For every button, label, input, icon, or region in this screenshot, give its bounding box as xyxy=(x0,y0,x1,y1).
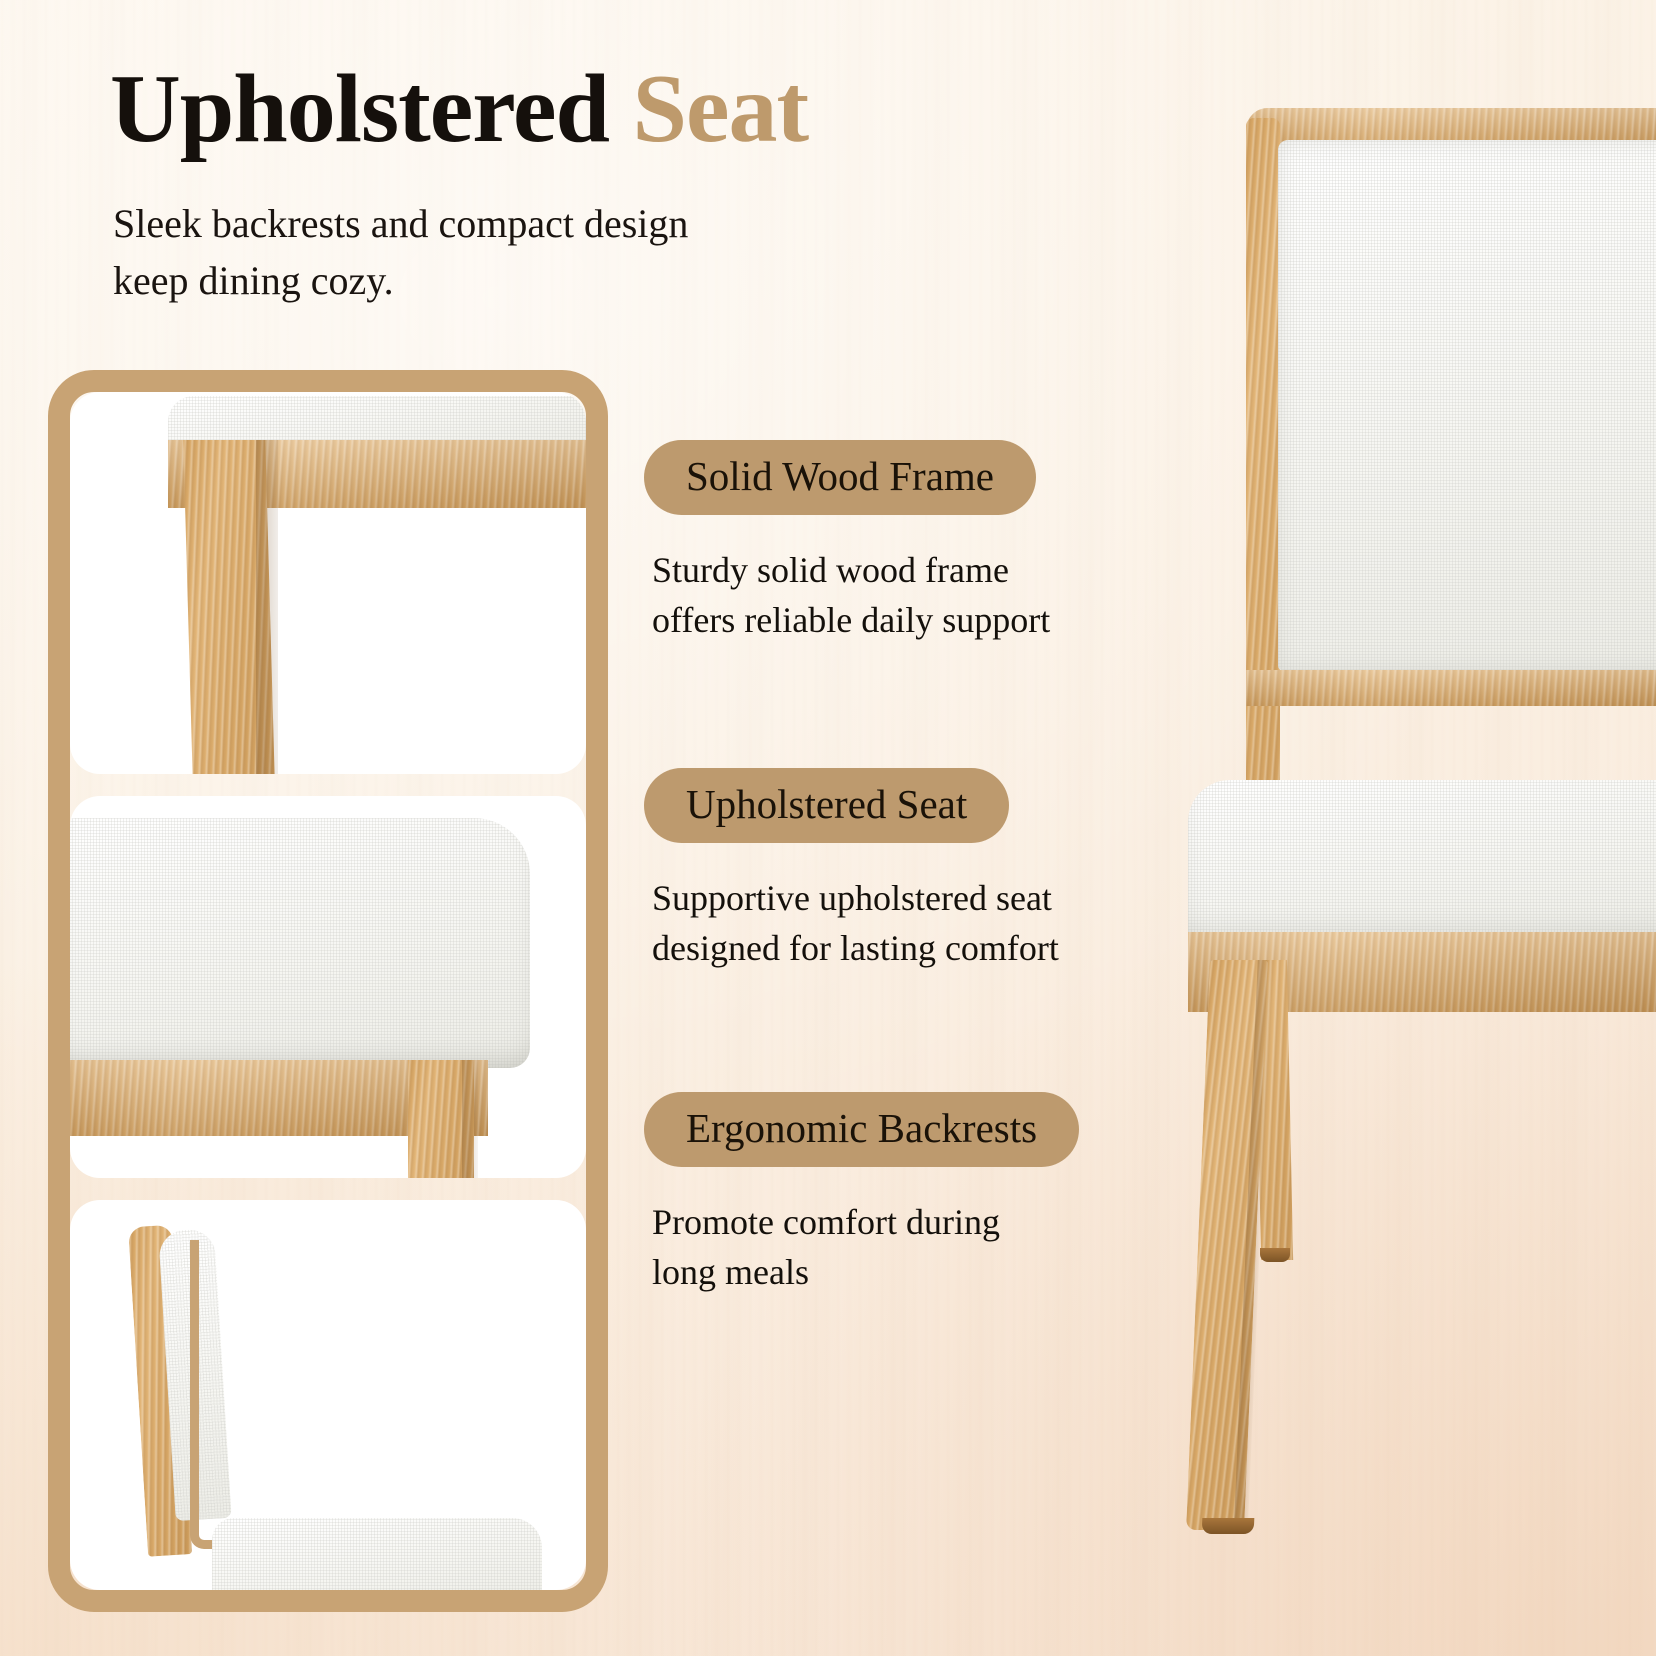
chair-leg-shadow xyxy=(462,1060,478,1178)
page-subtitle-line-2: keep dining cozy. xyxy=(113,253,688,310)
feature-description-line-2: offers reliable daily support xyxy=(652,595,1190,645)
feature-item-solid-wood-frame: Solid Wood Frame Sturdy solid wood frame… xyxy=(630,440,1190,646)
page-subtitle-line-1: Sleek backrests and compact design xyxy=(113,196,688,253)
page-subtitle: Sleek backrests and compact design keep … xyxy=(113,196,688,310)
feature-badge-upholstered-seat[interactable]: Upholstered Seat xyxy=(644,768,1009,843)
backrest-upholstery xyxy=(1278,140,1656,670)
backrest-bottom-rail xyxy=(1246,670,1656,706)
gallery-photo-upholstered-seat-closeup[interactable] xyxy=(70,796,586,1178)
hero-image-dining-chair-side-view[interactable] xyxy=(1150,80,1656,1600)
gallery-photo-chair-side-profile[interactable] xyxy=(70,1200,586,1590)
page-title-accent: Seat xyxy=(633,55,809,163)
feature-description-line-2: long meals xyxy=(652,1247,1190,1297)
feature-badge-solid-wood-frame[interactable]: Solid Wood Frame xyxy=(644,440,1036,515)
seat-cushion-edge xyxy=(168,396,586,446)
feature-description-line-2: designed for lasting comfort xyxy=(652,923,1190,973)
feature-description-upholstered-seat: Supportive upholstered seat designed for… xyxy=(652,873,1190,974)
seat-cushion xyxy=(212,1518,542,1590)
infographic-canvas: Upholstered Seat Sleek backrests and com… xyxy=(0,0,1656,1656)
page-title: Upholstered Seat xyxy=(110,60,808,158)
gallery-cells xyxy=(48,370,608,1612)
feature-badge-ergonomic-backrests[interactable]: Ergonomic Backrests xyxy=(644,1092,1079,1167)
seat-cushion xyxy=(70,818,530,1068)
chair-leg-shadow xyxy=(256,440,278,774)
feature-description-line-1: Promote comfort during xyxy=(652,1197,1190,1247)
feature-spacer xyxy=(630,980,1190,1092)
feature-item-ergonomic-backrests: Ergonomic Backrests Promote comfort duri… xyxy=(630,1092,1190,1298)
seat-upholstery xyxy=(1188,780,1656,945)
feature-item-upholstered-seat: Upholstered Seat Supportive upholstered … xyxy=(630,768,1190,974)
chair-rear-foot xyxy=(1260,1248,1290,1262)
page-title-primary: Upholstered xyxy=(110,55,609,163)
feature-description-line-1: Sturdy solid wood frame xyxy=(652,545,1190,595)
feature-description-line-1: Supportive upholstered seat xyxy=(652,873,1190,923)
feature-description-solid-wood-frame: Sturdy solid wood frame offers reliable … xyxy=(652,545,1190,646)
feature-list: Solid Wood Frame Sturdy solid wood frame… xyxy=(630,440,1190,1303)
gallery-photo-chair-frame-joint-closeup[interactable] xyxy=(70,392,586,774)
feature-spacer xyxy=(630,652,1190,768)
chair-front-foot xyxy=(1202,1518,1255,1534)
feature-description-ergonomic-backrests: Promote comfort during long meals xyxy=(652,1197,1190,1298)
